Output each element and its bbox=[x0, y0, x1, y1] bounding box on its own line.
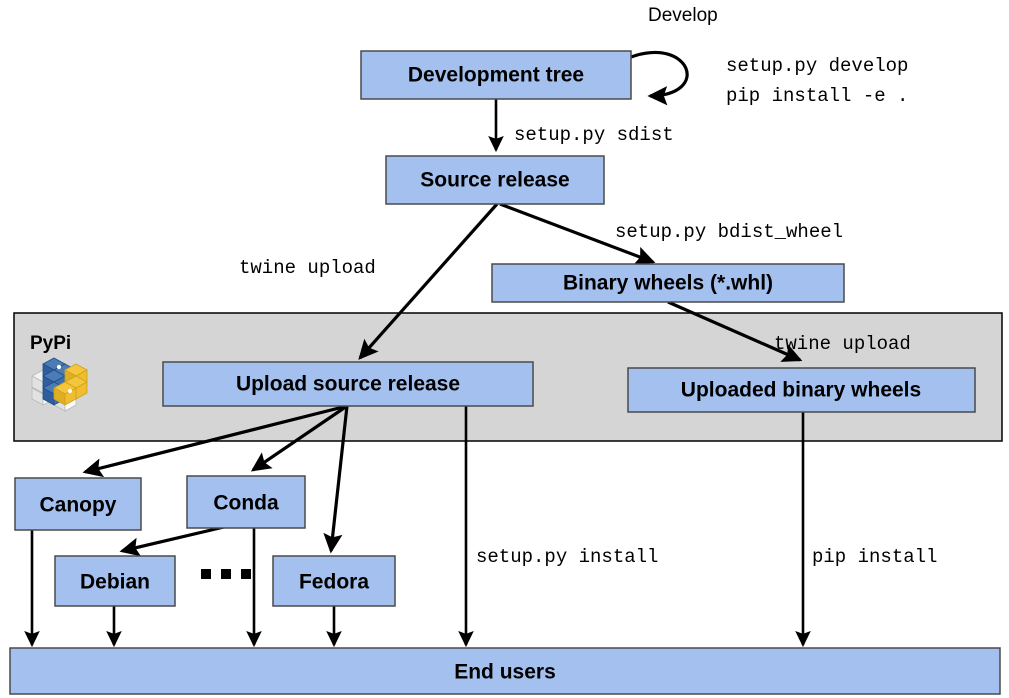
ellipsis-dots bbox=[201, 569, 251, 579]
node-fedora-label: Fedora bbox=[299, 571, 369, 594]
node-end-users-label: End users bbox=[454, 661, 556, 684]
edge-label-setup-develop: setup.py develop bbox=[726, 55, 908, 77]
edge-label-pip-install: pip install bbox=[812, 546, 937, 568]
packaging-flow-diagram: PyPi bbox=[0, 0, 1009, 698]
node-binary-wheels[interactable]: Binary wheels (*.whl) bbox=[492, 264, 844, 302]
node-source-release-label: Source release bbox=[420, 169, 569, 192]
node-upload-source-release-label: Upload source release bbox=[236, 373, 460, 396]
node-fedora[interactable]: Fedora bbox=[273, 556, 395, 606]
node-end-users[interactable]: End users bbox=[10, 648, 1000, 694]
edge-label-pip-install-editable: pip install -e . bbox=[726, 85, 908, 107]
edge-label-setup-sdist: setup.py sdist bbox=[514, 124, 674, 146]
node-conda-label: Conda bbox=[213, 492, 279, 515]
diagram-canvas: PyPi bbox=[0, 0, 1009, 698]
edge-label-setup-bdist-wheel: setup.py bdist_wheel bbox=[615, 221, 843, 243]
edge-label-develop: Develop bbox=[648, 5, 718, 26]
node-upload-source-release[interactable]: Upload source release bbox=[163, 362, 533, 406]
node-canopy-label: Canopy bbox=[39, 494, 116, 517]
node-canopy[interactable]: Canopy bbox=[15, 478, 141, 530]
node-uploaded-binary-wheels-label: Uploaded binary wheels bbox=[681, 379, 921, 402]
node-binary-wheels-label: Binary wheels (*.whl) bbox=[563, 272, 773, 295]
node-debian-label: Debian bbox=[80, 571, 150, 594]
node-development-tree-label: Development tree bbox=[408, 64, 584, 87]
node-development-tree[interactable]: Development tree bbox=[361, 51, 631, 99]
node-uploaded-binary-wheels[interactable]: Uploaded binary wheels bbox=[628, 368, 975, 412]
edge-label-setup-install: setup.py install bbox=[476, 546, 658, 568]
edge-develop-selfloop bbox=[631, 52, 687, 96]
edge-label-twine-upload-wheels: twine upload bbox=[774, 333, 911, 355]
node-conda[interactable]: Conda bbox=[187, 476, 305, 528]
node-source-release[interactable]: Source release bbox=[386, 156, 604, 204]
node-debian[interactable]: Debian bbox=[55, 556, 175, 606]
pypi-region-label: PyPi bbox=[30, 333, 71, 354]
edge-label-twine-upload-source: twine upload bbox=[239, 257, 376, 279]
